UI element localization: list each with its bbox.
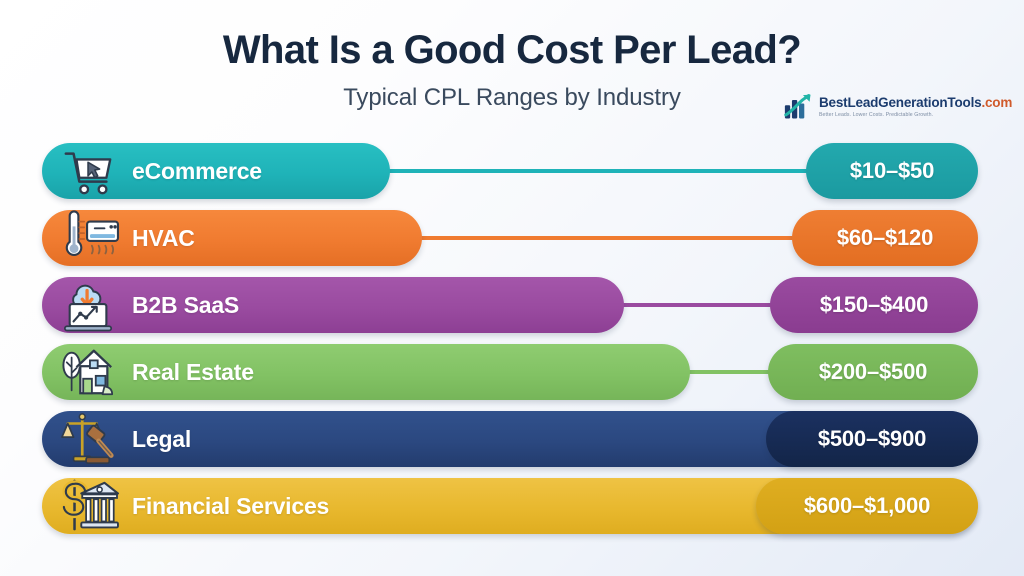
- category-label: Financial Services: [132, 493, 329, 520]
- category-label: eCommerce: [132, 158, 262, 185]
- price-label: $10–$50: [850, 158, 934, 184]
- dollar-bank-icon: [60, 478, 118, 534]
- logo-tld-text: .com: [981, 95, 1012, 110]
- table-row[interactable]: Legal $500–$900: [0, 406, 1024, 472]
- price-pill[interactable]: $10–$50: [806, 143, 978, 199]
- brand-logo[interactable]: BestLeadGenerationTools.com Better Leads…: [784, 88, 1014, 126]
- table-row[interactable]: Financial Services $600–$1,000: [0, 473, 1024, 539]
- table-row[interactable]: eCommerce $10–$50: [0, 138, 1024, 204]
- category-label: B2B SaaS: [132, 292, 239, 319]
- price-label: $150–$400: [820, 292, 928, 318]
- thermometer-air-conditioner-icon: [60, 210, 118, 266]
- house-tree-icon: [60, 344, 118, 400]
- category-bar[interactable]: HVAC: [42, 210, 422, 266]
- shopping-cart-cursor-icon: [60, 143, 118, 199]
- infographic-canvas: What Is a Good Cost Per Lead? Typical CP…: [0, 0, 1024, 576]
- industry-rows: eCommerce $10–$50: [0, 138, 1024, 540]
- logo-name: BestLeadGenerationTools.com: [819, 96, 1012, 110]
- logo-brand-text: BestLeadGenerationTools: [819, 95, 981, 110]
- price-pill[interactable]: $150–$400: [770, 277, 978, 333]
- category-bar[interactable]: eCommerce: [42, 143, 390, 199]
- category-bar[interactable]: Real Estate: [42, 344, 690, 400]
- row-connector: [392, 236, 822, 240]
- category-bar[interactable]: B2B SaaS: [42, 277, 624, 333]
- table-row[interactable]: HVAC $60–$120: [0, 205, 1024, 271]
- price-label: $200–$500: [819, 359, 927, 385]
- logo-tagline: Better Leads. Lower Costs. Predictable G…: [819, 113, 1012, 118]
- price-pill[interactable]: $600–$1,000: [756, 478, 978, 534]
- header: What Is a Good Cost Per Lead? Typical CP…: [0, 0, 1024, 130]
- bar-chart-growth-arrow-icon: [784, 93, 814, 121]
- logo-text: BestLeadGenerationTools.com Better Leads…: [819, 96, 1012, 118]
- table-row[interactable]: Real Estate $200–$500: [0, 339, 1024, 405]
- row-connector: [360, 169, 820, 173]
- price-label: $500–$900: [818, 426, 926, 452]
- category-label: Legal: [132, 426, 191, 453]
- scales-gavel-icon: [60, 411, 118, 467]
- price-label: $600–$1,000: [804, 493, 930, 519]
- price-pill[interactable]: $60–$120: [792, 210, 978, 266]
- category-label: HVAC: [132, 225, 195, 252]
- table-row[interactable]: B2B SaaS $150–$400: [0, 272, 1024, 338]
- page-title: What Is a Good Cost Per Lead?: [0, 28, 1024, 73]
- category-label: Real Estate: [132, 359, 254, 386]
- price-pill[interactable]: $200–$500: [768, 344, 978, 400]
- price-pill[interactable]: $500–$900: [766, 411, 978, 467]
- price-label: $60–$120: [837, 225, 933, 251]
- cloud-download-laptop-chart-icon: [60, 277, 118, 333]
